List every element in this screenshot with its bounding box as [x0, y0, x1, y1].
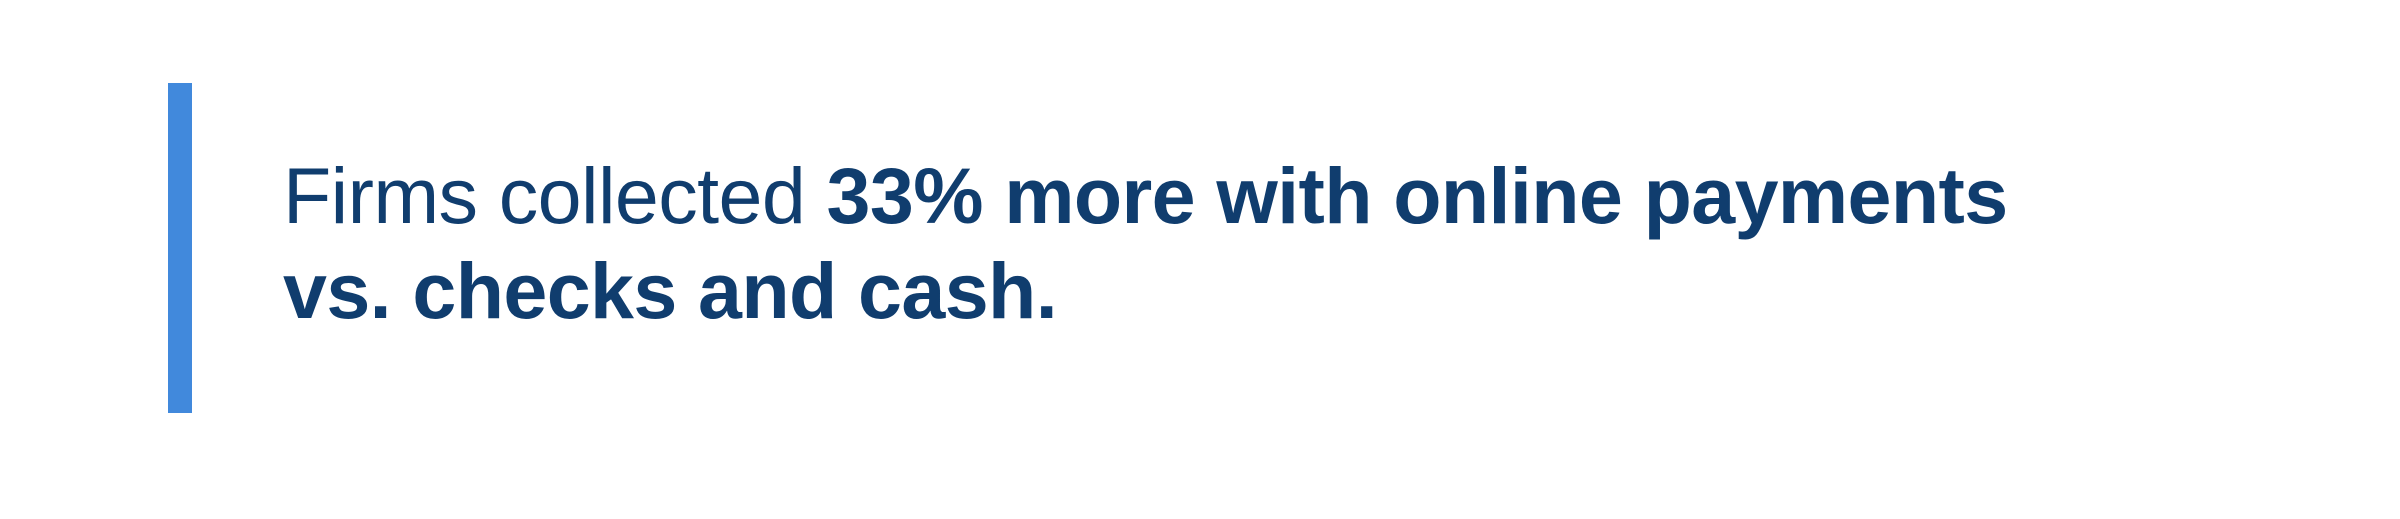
callout-line-2-emphasis-text: vs. checks and cash.	[283, 246, 1057, 335]
callout-line-1: Firms collected 33% more with online pay…	[283, 148, 2283, 243]
callout-line-1-lead-text: Firms collected	[283, 151, 827, 240]
callout-line-1-emphasis-text: 33% more with online payments	[827, 151, 2008, 240]
accent-bar-icon	[168, 83, 192, 413]
callout-text-block: Firms collected 33% more with online pay…	[283, 148, 2283, 338]
callout-line-2: vs. checks and cash.	[283, 243, 2283, 338]
statistic-callout: Firms collected 33% more with online pay…	[0, 0, 2400, 519]
